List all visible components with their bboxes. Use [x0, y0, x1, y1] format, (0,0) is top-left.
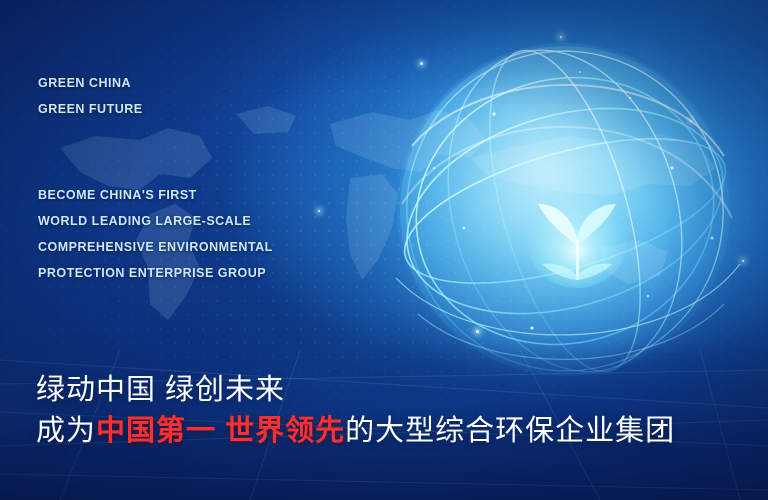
english-statement-block: BECOME CHINA'S FIRST WORLD LEADING LARGE… — [38, 182, 273, 286]
chinese-headline-suffix: 的大型综合环保企业集团 — [345, 415, 675, 447]
english-tagline-line: GREEN FUTURE — [38, 96, 143, 122]
chinese-headline-highlight: 中国第一 世界领先 — [96, 415, 345, 447]
poster-banner: GREEN CHINA GREEN FUTURE BECOME CHINA'S … — [0, 0, 768, 500]
english-statement-line: WORLD LEADING LARGE-SCALE — [38, 208, 273, 234]
chinese-headline: 绿动中国 绿创未来 成为中国第一 世界领先的大型综合环保企业集团 — [36, 370, 675, 452]
english-tagline-top: GREEN CHINA GREEN FUTURE — [38, 70, 143, 122]
chinese-headline-prefix: 成为 — [36, 415, 96, 447]
english-statement-line: PROTECTION ENTERPRISE GROUP — [38, 260, 273, 286]
english-statement-line: BECOME CHINA'S FIRST — [38, 182, 273, 208]
chinese-headline-line1: 绿动中国 绿创未来 — [36, 370, 675, 410]
english-statement-line: COMPREHENSIVE ENVIRONMENTAL — [38, 234, 273, 260]
chinese-headline-line2: 成为中国第一 世界领先的大型综合环保企业集团 — [36, 410, 675, 452]
english-tagline-line: GREEN CHINA — [38, 70, 143, 96]
